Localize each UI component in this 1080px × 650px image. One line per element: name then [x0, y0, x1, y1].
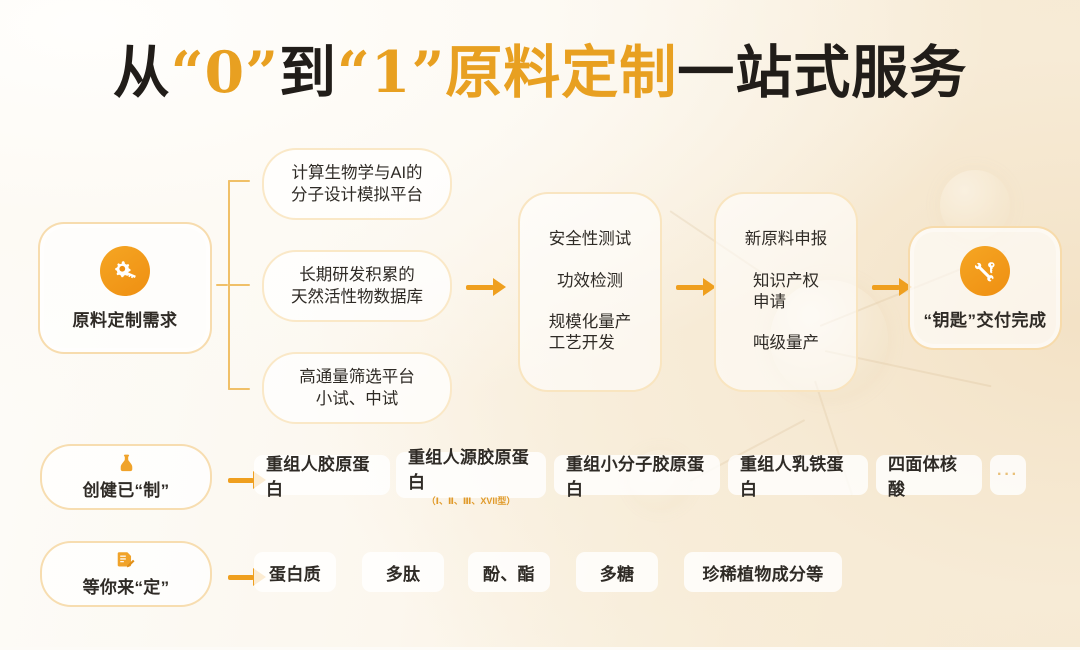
flow-end-card[interactable]: “钥匙”交付完成	[908, 226, 1062, 350]
chip-existing-3-text: 重组人乳铁蛋白	[740, 450, 856, 500]
chip-custom-0-text: 蛋白质	[269, 560, 321, 585]
key-wrench-icon	[960, 246, 1010, 296]
row-label-custom[interactable]: 等你来“定”	[40, 541, 212, 607]
capability-1-line2: 天然活性物数据库	[291, 286, 423, 308]
chip-existing-0-text: 重组人胶原蛋白	[266, 450, 378, 500]
testing-item-0: 安全性测试	[549, 229, 632, 250]
registration-item-1-line2: 申请	[753, 292, 819, 313]
testing-item-2-line2: 工艺开发	[549, 333, 632, 354]
chip-existing-2[interactable]: 重组小分子胶原蛋白	[554, 455, 720, 495]
page-title: 从“0”到“1”原料定制一站式服务	[0, 44, 1080, 101]
flask-icon	[118, 454, 135, 474]
chip-existing-1-text: 重组人源胶原蛋白	[408, 443, 534, 493]
registration-item-0: 新原料申报	[745, 229, 828, 250]
capability-pill-2[interactable]: 高通量筛选平台 小试、中试	[262, 352, 452, 424]
chip-existing-3[interactable]: 重组人乳铁蛋白	[728, 455, 868, 495]
row-label-custom-text: 等你来“定”	[83, 573, 170, 598]
chip-custom-3-text: 多糖	[600, 560, 635, 585]
poster-canvas: 从“0”到“1”原料定制一站式服务 原料定制需求 计算生物学与AI的 分子设计模…	[0, 0, 1080, 647]
capability-1-line1: 长期研发积累的	[291, 264, 423, 286]
chip-existing-4-text: 四面体核酸	[888, 450, 970, 500]
title-segment-4: 原料定制	[445, 39, 677, 106]
chip-existing-1-sub: （Ⅰ、Ⅱ、Ⅲ、XVII型）	[427, 494, 516, 507]
flow-arrow-2	[676, 278, 716, 296]
flow-stage-registration-card[interactable]: 新原料申报 知识产权 申请 吨级量产	[714, 192, 858, 392]
capability-pill-1[interactable]: 长期研发积累的 天然活性物数据库	[262, 250, 452, 322]
row-label-existing[interactable]: 创健已“制”	[40, 444, 212, 510]
flow-stage-testing-card[interactable]: 安全性测试 功效检测 规模化量产 工艺开发	[518, 192, 662, 392]
chip-existing-more-text: ···	[997, 466, 1019, 484]
capability-2-line2: 小试、中试	[299, 388, 415, 410]
title-segment-2: 到	[279, 39, 337, 106]
chip-existing-1[interactable]: 重组人源胶原蛋白 （Ⅰ、Ⅱ、Ⅲ、XVII型）	[396, 452, 546, 498]
flow-arrow-1	[466, 278, 506, 296]
title-segment-5: 一站式服务	[677, 39, 967, 106]
registration-item-1-line1: 知识产权	[753, 271, 819, 292]
chip-custom-1-text: 多肽	[386, 560, 421, 585]
title-segment-3: “1”	[337, 39, 445, 106]
flow-end-label: “钥匙”交付完成	[924, 306, 1047, 331]
capability-0-line1: 计算生物学与AI的	[291, 162, 423, 184]
chip-existing-2-text: 重组小分子胶原蛋白	[566, 450, 708, 500]
registration-item-2: 吨级量产	[753, 333, 819, 354]
chip-custom-2[interactable]: 酚、酯	[468, 552, 550, 592]
chip-existing-4[interactable]: 四面体核酸	[876, 455, 982, 495]
capability-pill-0[interactable]: 计算生物学与AI的 分子设计模拟平台	[262, 148, 452, 220]
title-segment-1: “0”	[171, 39, 279, 106]
gear-wrench-icon	[100, 246, 150, 296]
testing-item-2-line1: 规模化量产	[549, 312, 632, 333]
testing-item-1: 功效检测	[557, 271, 623, 292]
chip-custom-4-text: 珍稀植物成分等	[702, 560, 823, 585]
chip-custom-2-text: 酚、酯	[483, 560, 535, 585]
chip-custom-1[interactable]: 多肽	[362, 552, 444, 592]
capability-0-line2: 分子设计模拟平台	[291, 184, 423, 206]
capability-bracket	[228, 180, 252, 390]
flow-start-card[interactable]: 原料定制需求	[38, 222, 212, 354]
chip-existing-more[interactable]: ···	[990, 455, 1026, 495]
row-label-existing-text: 创健已“制”	[83, 476, 170, 501]
title-segment-0: 从	[113, 39, 171, 106]
chip-existing-0[interactable]: 重组人胶原蛋白	[254, 455, 390, 495]
flow-arrow-3	[872, 278, 912, 296]
chip-custom-0[interactable]: 蛋白质	[254, 552, 336, 592]
document-pen-icon	[117, 551, 135, 571]
chip-custom-3[interactable]: 多糖	[576, 552, 658, 592]
capability-2-line1: 高通量筛选平台	[299, 366, 415, 388]
flow-start-label: 原料定制需求	[73, 306, 178, 331]
chip-custom-4[interactable]: 珍稀植物成分等	[684, 552, 842, 592]
